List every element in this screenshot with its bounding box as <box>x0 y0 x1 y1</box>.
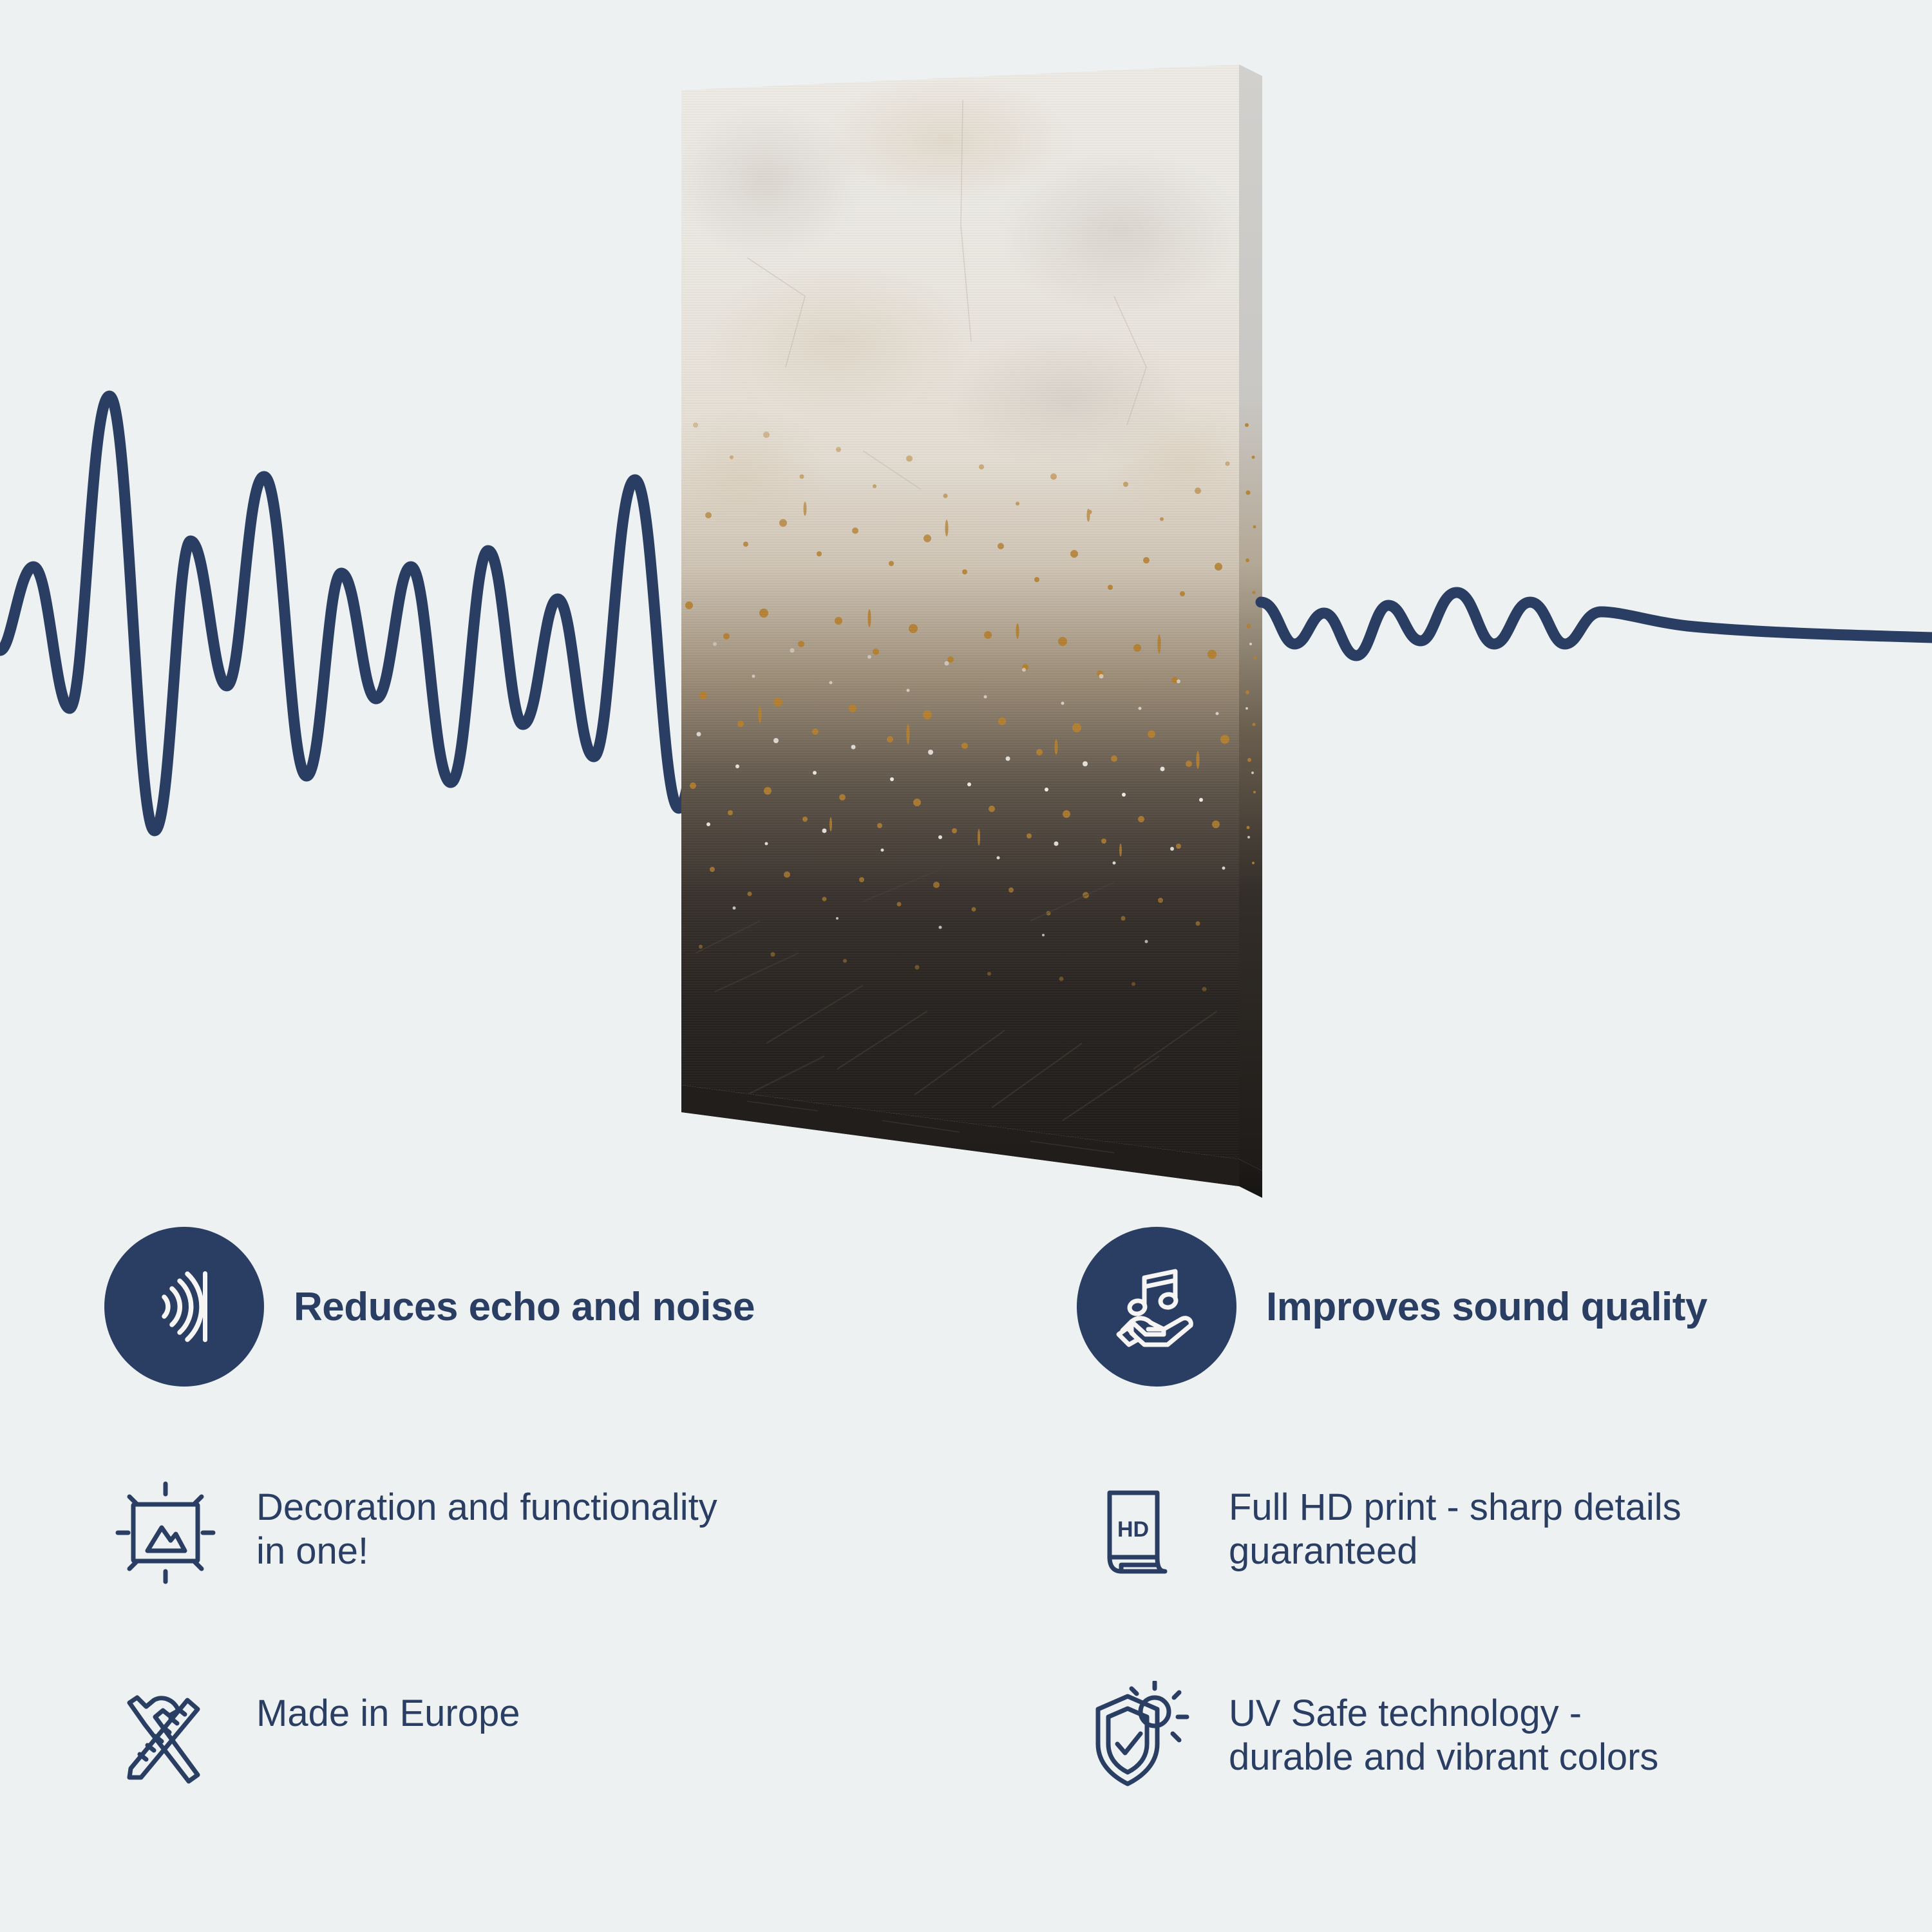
music-note-in-hand-icon <box>1108 1258 1205 1355</box>
feature-badge-sound-quality: Improves sound quality <box>1077 1227 1707 1387</box>
framed-picture-shine-icon <box>108 1475 223 1591</box>
feature-text-europe-line1: Made in Europe <box>256 1692 520 1736</box>
ruler-hammer-icon <box>108 1681 223 1797</box>
feature-text-uv-line2: durable and vibrant colors <box>1229 1736 1658 1779</box>
feature-text-uv-safe: UV Safe technology - durable and vibrant… <box>1229 1678 1658 1780</box>
feature-list: Reduces echo and noise <box>0 1227 1932 1932</box>
feature-text-decoration-line1: Decoration and functionality <box>256 1486 717 1529</box>
icon-box-made-in-europe <box>104 1678 227 1800</box>
feature-text-hd-line1: Full HD print - sharp details <box>1229 1486 1681 1529</box>
feature-text-decoration: Decoration and functionality in one! <box>256 1472 717 1574</box>
acoustic-canvas-product <box>670 64 1262 1236</box>
feature-row-decoration: Decoration and functionality in one! <box>104 1472 717 1594</box>
canvas-side-depth <box>1239 64 1262 1171</box>
product-feature-graphic: Reduces echo and noise <box>0 0 1932 1932</box>
icon-box-hd-print: HD <box>1077 1472 1199 1594</box>
badge-label-sound: Improves sound quality <box>1266 1284 1707 1330</box>
badge-circle-echo <box>104 1227 264 1387</box>
feature-badge-reduces-echo: Reduces echo and noise <box>104 1227 755 1387</box>
feature-row-hd-print: HD Full HD print - sharp details guarant… <box>1077 1472 1681 1594</box>
icon-box-uv-safe <box>1077 1678 1199 1800</box>
hd-label: HD <box>1117 1517 1149 1542</box>
badge-circle-sound <box>1077 1227 1236 1387</box>
badge-label-echo: Reduces echo and noise <box>294 1284 755 1330</box>
uv-shield-sun-icon <box>1080 1681 1196 1797</box>
feature-text-hd-print: Full HD print - sharp details guaranteed <box>1229 1472 1681 1574</box>
feature-text-made-in-europe: Made in Europe <box>256 1678 520 1736</box>
icon-box-decoration <box>104 1472 227 1594</box>
feature-text-hd-line2: guaranteed <box>1229 1529 1681 1573</box>
feature-text-uv-line1: UV Safe technology - <box>1229 1692 1658 1736</box>
feature-row-made-in-europe: Made in Europe <box>104 1678 520 1800</box>
hd-print-icon: HD <box>1080 1475 1196 1591</box>
sound-waves-panel-icon <box>136 1258 232 1355</box>
feature-text-decoration-line2: in one! <box>256 1529 717 1573</box>
canvas-front-face <box>670 64 1262 1236</box>
feature-row-uv-safe: UV Safe technology - durable and vibrant… <box>1077 1678 1658 1800</box>
